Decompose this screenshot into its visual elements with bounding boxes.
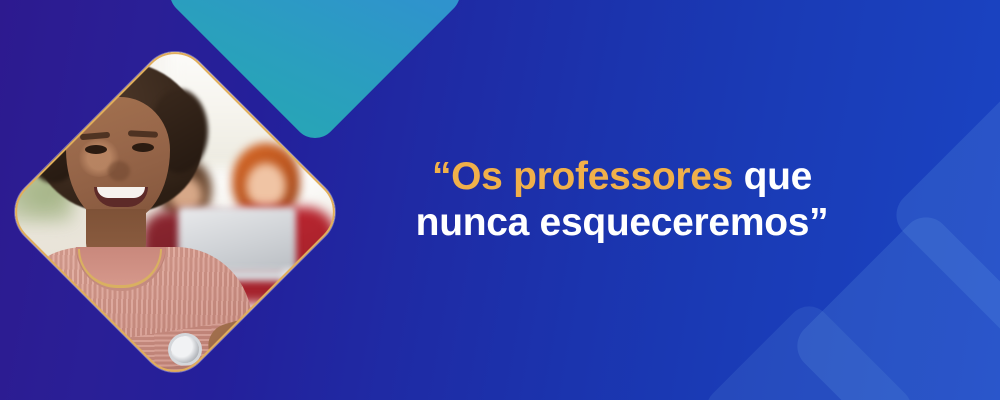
background-student-b-face (246, 163, 286, 209)
promo-banner: “Os professores que nunca esqueceremos” (0, 0, 1000, 400)
background-student-b-arm (312, 249, 349, 311)
banner-headline: “Os professores que nunca esqueceremos” (372, 154, 872, 246)
classroom-green-object (318, 297, 349, 347)
photo-inner-rotation (52, 89, 298, 335)
teacher-eye-right (132, 143, 154, 152)
teacher-eye-left (85, 145, 107, 154)
teacher-teeth (97, 187, 145, 198)
classroom-mug (282, 269, 308, 305)
headline-line-2: nunca esqueceremos” (372, 200, 872, 246)
teacher-fingernails (89, 359, 136, 386)
quote-close-icon: ” (809, 201, 828, 244)
headline-accent-text: Os professores (451, 155, 733, 198)
headline-rest-line-1: que (733, 155, 812, 198)
teacher-nose (108, 161, 130, 181)
headline-line-2-text: nunca esqueceremos (416, 201, 809, 244)
headline-line-1: “Os professores que (372, 154, 872, 200)
quote-open-icon: “ (432, 155, 451, 198)
